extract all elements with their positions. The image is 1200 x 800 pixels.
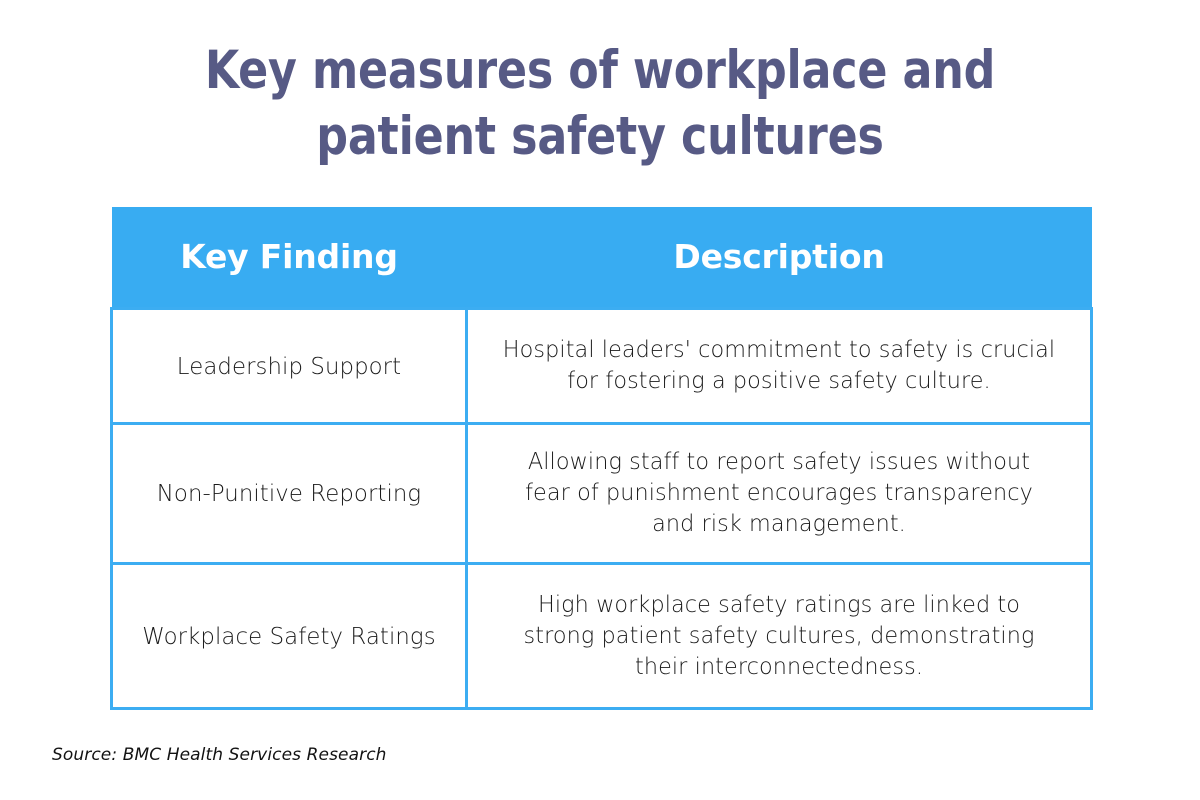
title-block: Key measures of workplace and patient sa… bbox=[0, 38, 1200, 170]
column-header-description: Description bbox=[467, 207, 1092, 309]
table-cell-description: Allowing staff to report safety issues w… bbox=[467, 424, 1092, 564]
table-cell-key-finding: Non-Punitive Reporting bbox=[112, 424, 467, 564]
column-header-description-label: Description bbox=[467, 239, 1092, 275]
key-finding-label: Leadership Support bbox=[136, 351, 443, 382]
key-findings-table-container: Key Finding Description Leadership Suppo… bbox=[110, 207, 1090, 710]
table-row: Leadership Support Hospital leaders' com… bbox=[112, 309, 1092, 424]
table-row: Non-Punitive Reporting Allowing staff to… bbox=[112, 424, 1092, 564]
table-cell-description: High workplace safety ratings are linked… bbox=[467, 564, 1092, 709]
description-text: Hospital leaders' commitment to safety i… bbox=[503, 335, 1056, 397]
key-finding-label: Non-Punitive Reporting bbox=[136, 478, 443, 509]
table-header: Key Finding Description bbox=[112, 207, 1092, 309]
table-cell-key-finding: Leadership Support bbox=[112, 309, 467, 424]
page-title: Key measures of workplace and patient sa… bbox=[42, 38, 1158, 170]
column-header-key-finding-label: Key Finding bbox=[112, 239, 467, 275]
description-text: Allowing staff to report safety issues w… bbox=[503, 447, 1056, 540]
column-header-key-finding: Key Finding bbox=[112, 207, 467, 309]
table-cell-description: Hospital leaders' commitment to safety i… bbox=[467, 309, 1092, 424]
table-header-row: Key Finding Description bbox=[112, 207, 1092, 309]
source-note: Source: BMC Health Services Research bbox=[52, 745, 387, 765]
infographic-page: Key measures of workplace and patient sa… bbox=[0, 0, 1200, 800]
table-body: Leadership Support Hospital leaders' com… bbox=[112, 309, 1092, 709]
key-findings-table: Key Finding Description Leadership Suppo… bbox=[110, 207, 1093, 710]
description-text: High workplace safety ratings are linked… bbox=[503, 590, 1056, 683]
table-cell-key-finding: Workplace Safety Ratings bbox=[112, 564, 467, 709]
key-finding-label: Workplace Safety Ratings bbox=[136, 621, 443, 652]
table-row: Workplace Safety Ratings High workplace … bbox=[112, 564, 1092, 709]
